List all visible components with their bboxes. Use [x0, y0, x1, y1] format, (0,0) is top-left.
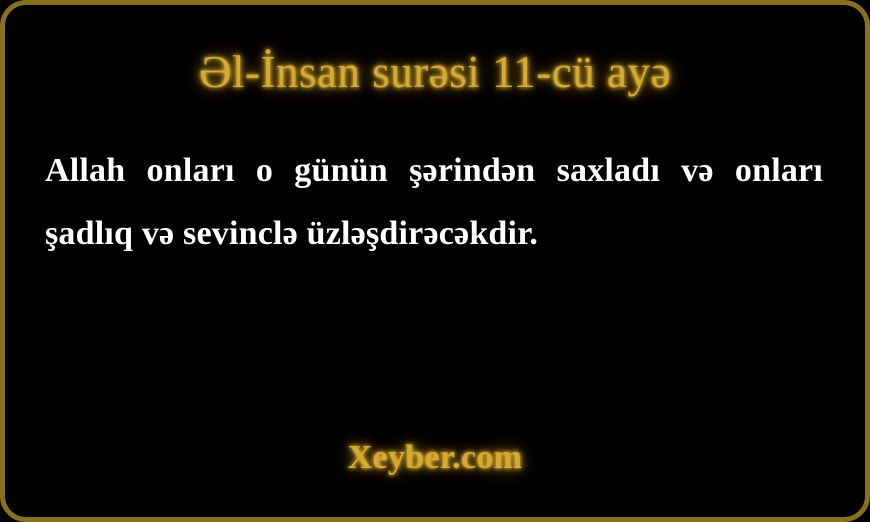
layout-spacer [5, 265, 865, 441]
site-watermark: Xeyber.com [5, 441, 865, 517]
page-title: Əl-İnsan surəsi 11-cü ayə [5, 5, 865, 95]
ayah-card: Əl-İnsan surəsi 11-cü ayə Allah onları o… [0, 0, 870, 522]
verse-text: Allah onları o günün şərindən saxladı və… [5, 139, 865, 265]
